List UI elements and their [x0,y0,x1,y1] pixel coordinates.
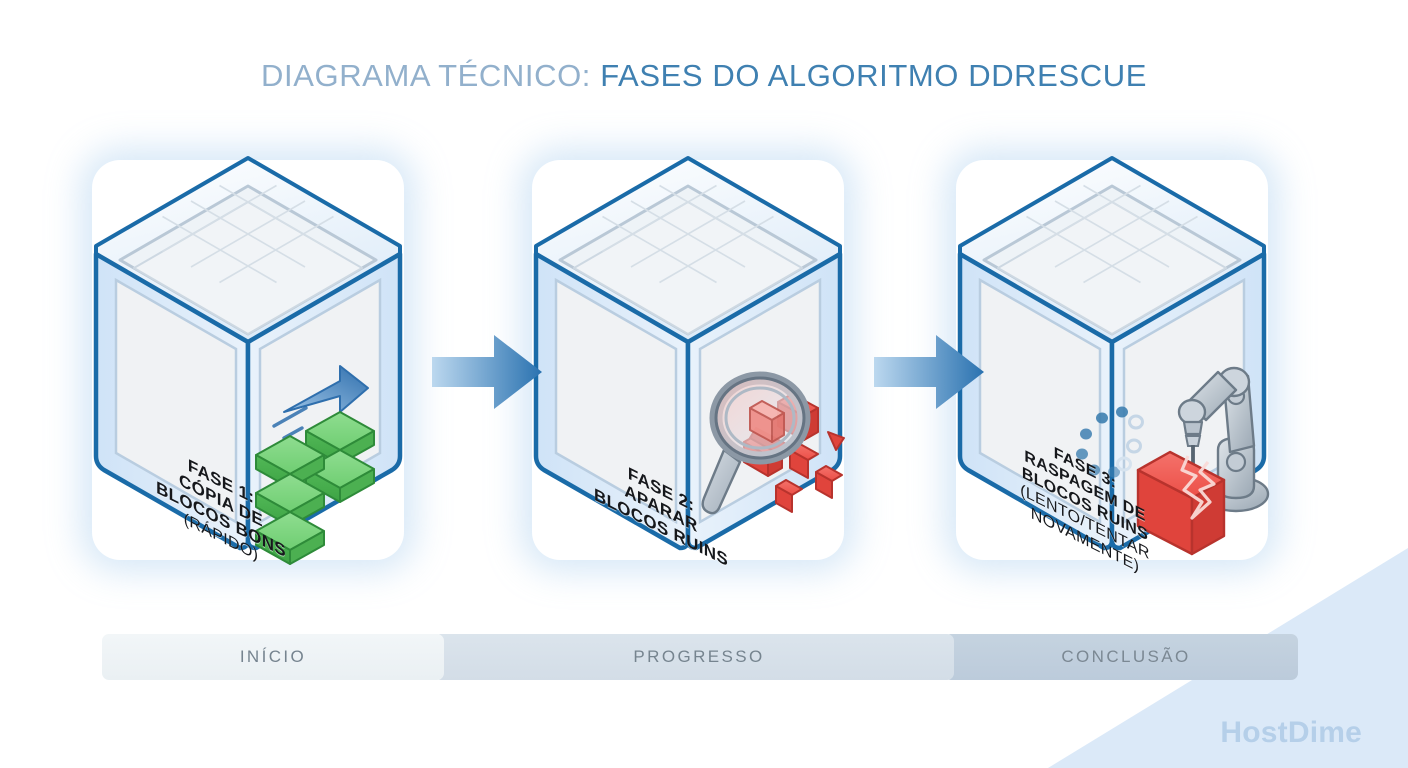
progress-segment-conclusao[interactable]: CONCLUSÃO [944,634,1298,680]
brand-logo: HostDime [1220,716,1362,750]
progress-label-conclusao: CONCLUSÃO [1061,647,1190,667]
arrow-phase2-to-phase3 [874,333,984,411]
progress-segment-progresso[interactable]: PROGRESSO [434,634,954,680]
progress-label-inicio: INÍCIO [240,647,306,667]
arrow-phase1-to-phase2 [432,333,542,411]
title-prefix: DIAGRAMA TÉCNICO: [261,58,591,93]
title-main: FASES DO ALGORITMO DDRESCUE [600,58,1147,93]
progress-bar: INÍCIO PROGRESSO CONCLUSÃO [102,634,1308,680]
right-arrow-icon [874,333,984,411]
progress-label-progresso: PROGRESSO [633,647,764,667]
diagram-canvas: DIAGRAMA TÉCNICO: FASES DO ALGORITMO DDR… [0,0,1408,768]
phase-card-3[interactable]: FASE 3: RASPAGEM DE BLOCOS RUINS (LENTO/… [952,150,1272,570]
phase-card-2[interactable]: FASE 2: APARAR BLOCOS RUINS [528,150,848,570]
page-title: DIAGRAMA TÉCNICO: FASES DO ALGORITMO DDR… [0,58,1408,94]
progress-segment-inicio[interactable]: INÍCIO [102,634,444,680]
right-arrow-icon [432,333,542,411]
phase-card-1[interactable]: FASE 1: CÓPIA DE BLOCOS BONS (RÁPIDO) [88,150,408,570]
